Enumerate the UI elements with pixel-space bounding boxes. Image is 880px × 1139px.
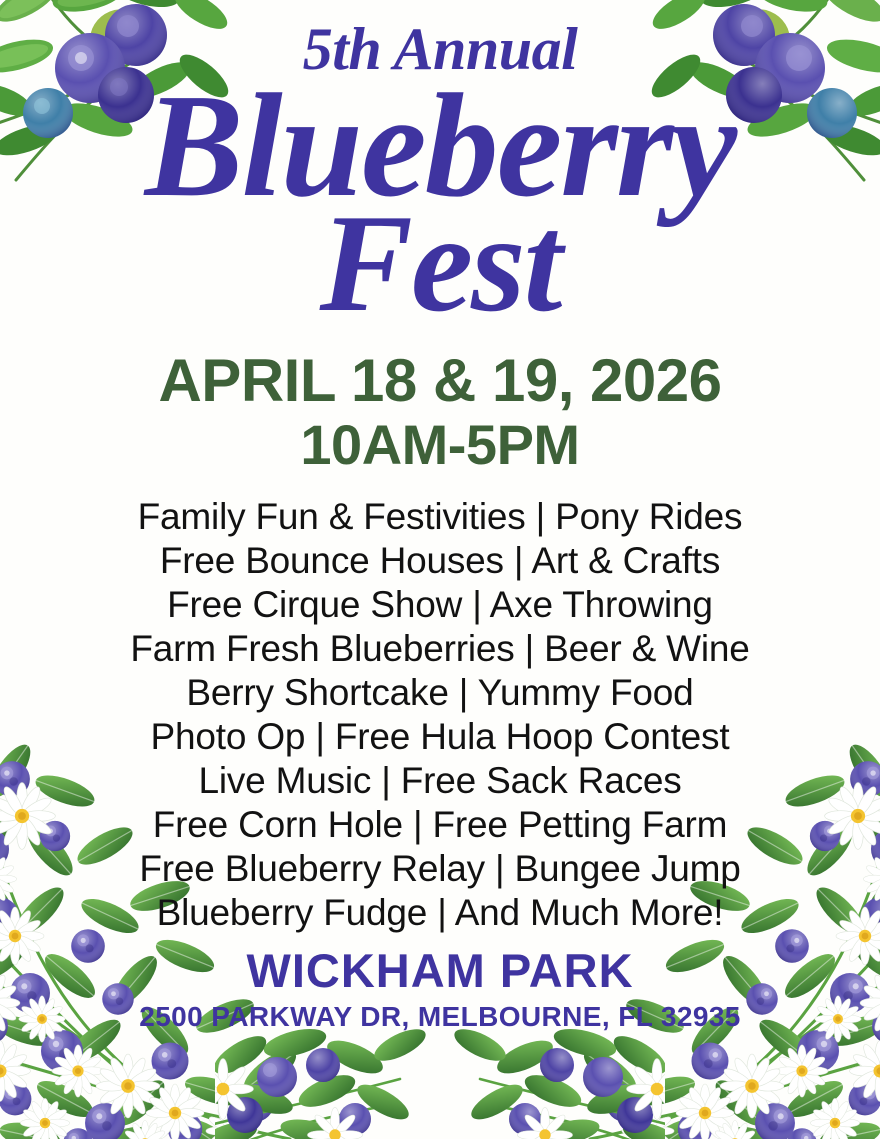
page-title: Blueberry Fest [145, 81, 735, 325]
venue-name: WICKHAM PARK [246, 947, 633, 994]
list-item: Free Blueberry Relay | Bungee Jump [130, 847, 749, 891]
poster-content: 5th Annual Blueberry Fest APRIL 18 & 19,… [0, 0, 880, 1139]
list-item: Free Corn Hole | Free Petting Farm [130, 803, 749, 847]
list-item: Farm Fresh Blueberries | Beer & Wine [130, 627, 749, 671]
list-item: Photo Op | Free Hula Hoop Contest [130, 715, 749, 759]
list-item: Free Bounce Houses | Art & Crafts [130, 539, 749, 583]
list-item: Blueberry Fudge | And Much More! [130, 891, 749, 935]
list-item: Live Music | Free Sack Races [130, 759, 749, 803]
event-date: APRIL 18 & 19, 2026 [158, 351, 721, 411]
poster-canvas: 5th Annual Blueberry Fest APRIL 18 & 19,… [0, 0, 880, 1139]
activities-list: Family Fun & Festivities | Pony Rides Fr… [130, 495, 749, 935]
list-item: Family Fun & Festivities | Pony Rides [130, 495, 749, 539]
event-time: 10AM-5PM [300, 417, 579, 473]
list-item: Berry Shortcake | Yummy Food [130, 671, 749, 715]
list-item: Free Cirque Show | Axe Throwing [130, 583, 749, 627]
venue-address: 2500 PARKWAY DR, MELBOURNE, FL 32935 [139, 1003, 741, 1031]
